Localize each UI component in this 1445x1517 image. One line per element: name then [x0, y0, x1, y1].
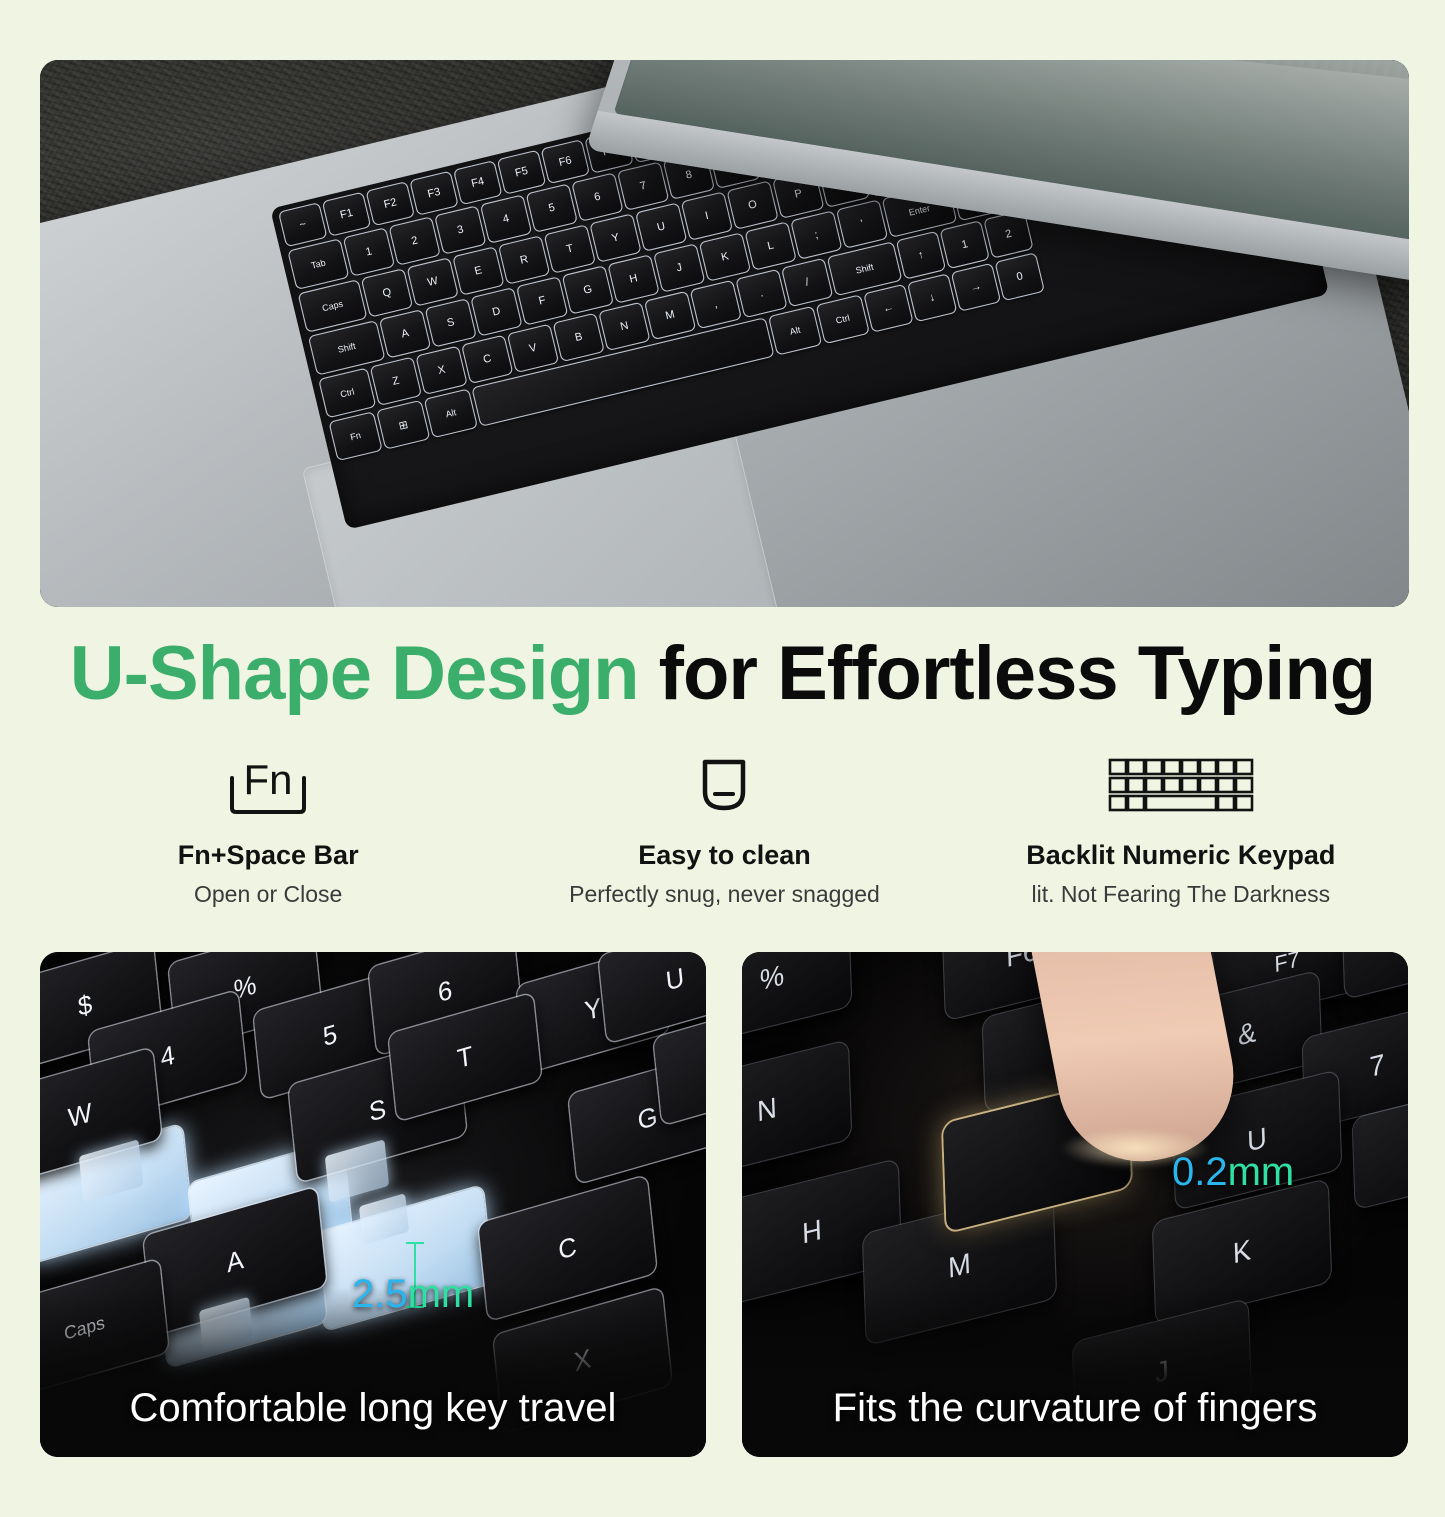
headline-green-text: U-Shape Design [70, 631, 639, 716]
key-travel-photo: $ % 4 5 6 Y U W S T G H A C X Caps 2.5mm [40, 952, 706, 1457]
feature-subtitle: Perfectly snug, never snagged [496, 881, 952, 908]
feature-subtitle: lit. Not Fearing The Darkness [953, 881, 1409, 908]
feature-item-fn-space-bar: Fn Fn+Space Bar Open or Close [40, 752, 496, 908]
headline-black-text: for Effortless Typing [639, 631, 1376, 716]
fn-key-bracket-icon: Fn [40, 752, 496, 818]
numeric-keypad-grid-icon [953, 752, 1409, 818]
caption-gradient [742, 1287, 1408, 1457]
fn-icon-label: Fn [244, 756, 293, 803]
feature-subtitle: Open or Close [40, 881, 496, 908]
feature-item-backlit-numeric-keypad: Backlit Numeric Keypad lit. Not Fearing … [953, 752, 1409, 908]
bottom-photo-row: $ % 4 5 6 Y U W S T G H A C X Caps 2.5mm [40, 952, 1409, 1457]
product-feature-page: ~ F1 F2 F3 F4 F5 F6 F7 F8 F9 F10 F11 F12… [0, 0, 1445, 1517]
feature-title: Backlit Numeric Keypad [953, 840, 1409, 871]
page-headline: U-Shape Design for Effortless Typing [0, 636, 1445, 712]
feature-title: Easy to clean [496, 840, 952, 871]
feature-item-easy-to-clean: Easy to clean Perfectly snug, never snag… [496, 752, 952, 908]
hero-laptop-photo: ~ F1 F2 F3 F4 F5 F6 F7 F8 F9 F10 F11 F12… [40, 60, 1409, 607]
photo-caption: Comfortable long key travel [40, 1386, 706, 1431]
key-travel-measurement: 2.5mm [352, 1272, 474, 1317]
u-shape-keycap-icon [496, 752, 952, 818]
finger-curvature-photo: % F6 F7 A 6 & 7 8 N H U K M J 0.2mm Fits… [742, 952, 1408, 1457]
keycap-dish-measurement: 0.2mm [1172, 1150, 1294, 1195]
feature-title: Fn+Space Bar [40, 840, 496, 871]
photo-caption: Fits the curvature of fingers [742, 1386, 1408, 1431]
feature-list: Fn Fn+Space Bar Open or Close Easy to cl… [40, 752, 1409, 908]
